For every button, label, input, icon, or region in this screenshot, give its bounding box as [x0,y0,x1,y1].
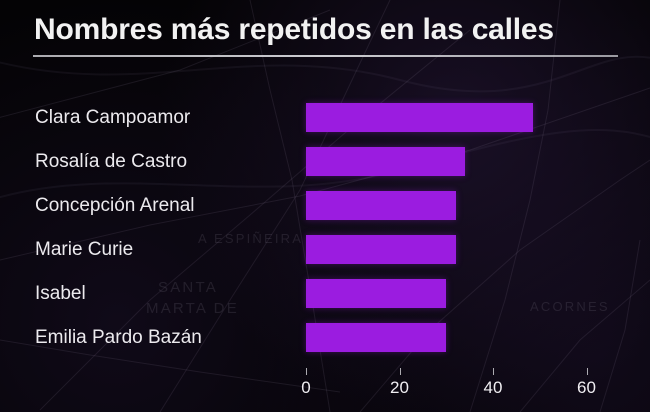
chart-screenshot: A ESPIÑEIRA SANTA MARTA DE ACORNES Nombr… [0,0,650,412]
x-axis: 0204060 [0,0,650,412]
x-tick-mark [400,368,401,375]
x-tick-mark [493,368,494,375]
x-tick-label: 60 [577,378,596,398]
x-tick-label: 0 [301,378,310,398]
x-tick-label: 20 [390,378,409,398]
x-tick-mark [306,368,307,375]
x-tick-mark [587,368,588,375]
x-tick-label: 40 [484,378,503,398]
